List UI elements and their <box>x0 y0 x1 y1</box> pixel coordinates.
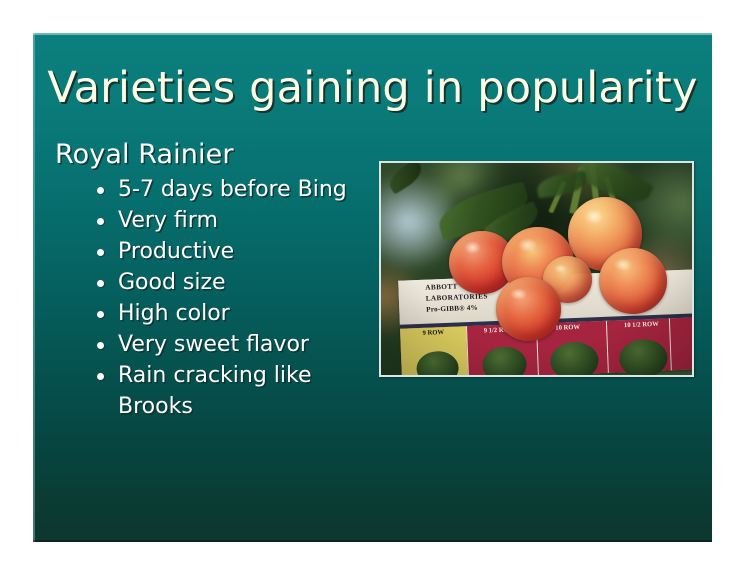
bullet-label: Very sweet flavor <box>118 332 309 357</box>
bullet-dot-icon <box>97 187 104 194</box>
slide-canvas: Varieties gaining in popularity Royal Ra… <box>0 0 745 576</box>
bullet-label: Very firm <box>118 208 218 233</box>
photo-vignette <box>381 163 692 375</box>
bullet-label: Good size <box>118 270 226 295</box>
bullet-dot-icon <box>97 249 104 256</box>
variety-subheading: Royal Rainier <box>55 138 385 172</box>
bullet-dot-icon <box>97 280 104 287</box>
slide-bottom-edge <box>33 540 712 542</box>
presentation-slide: Varieties gaining in popularity Royal Ra… <box>33 33 712 542</box>
bullet-label: Rain cracking like Brooks <box>118 363 312 419</box>
slide-top-edge <box>33 33 712 35</box>
list-item: Rain cracking like Brooks <box>95 361 385 422</box>
list-item: Productive <box>95 237 385 268</box>
list-item: High color <box>95 299 385 330</box>
cherry-photo: ABBOTT LABORATORIES Pro-GIBB® 4% 'SWE To… <box>381 163 692 375</box>
list-item: 5-7 days before Bing <box>95 175 385 206</box>
bullet-dot-icon <box>97 218 104 225</box>
slide-title: Varieties gaining in popularity <box>33 63 712 113</box>
list-item: Very sweet flavor <box>95 330 385 361</box>
bullet-label: Productive <box>118 239 234 264</box>
list-item: Very firm <box>95 206 385 237</box>
cherry-photo-frame: ABBOTT LABORATORIES Pro-GIBB® 4% 'SWE To… <box>379 161 694 377</box>
bullet-dot-icon <box>97 342 104 349</box>
bullet-dot-icon <box>97 311 104 318</box>
slide-body: Royal Rainier 5-7 days before Bing Very … <box>55 138 385 423</box>
bullet-label: High color <box>118 301 230 326</box>
bullet-dot-icon <box>97 373 104 380</box>
list-item: Good size <box>95 268 385 299</box>
bullet-list: 5-7 days before Bing Very firm Productiv… <box>55 175 385 422</box>
bullet-label: 5-7 days before Bing <box>118 177 347 202</box>
